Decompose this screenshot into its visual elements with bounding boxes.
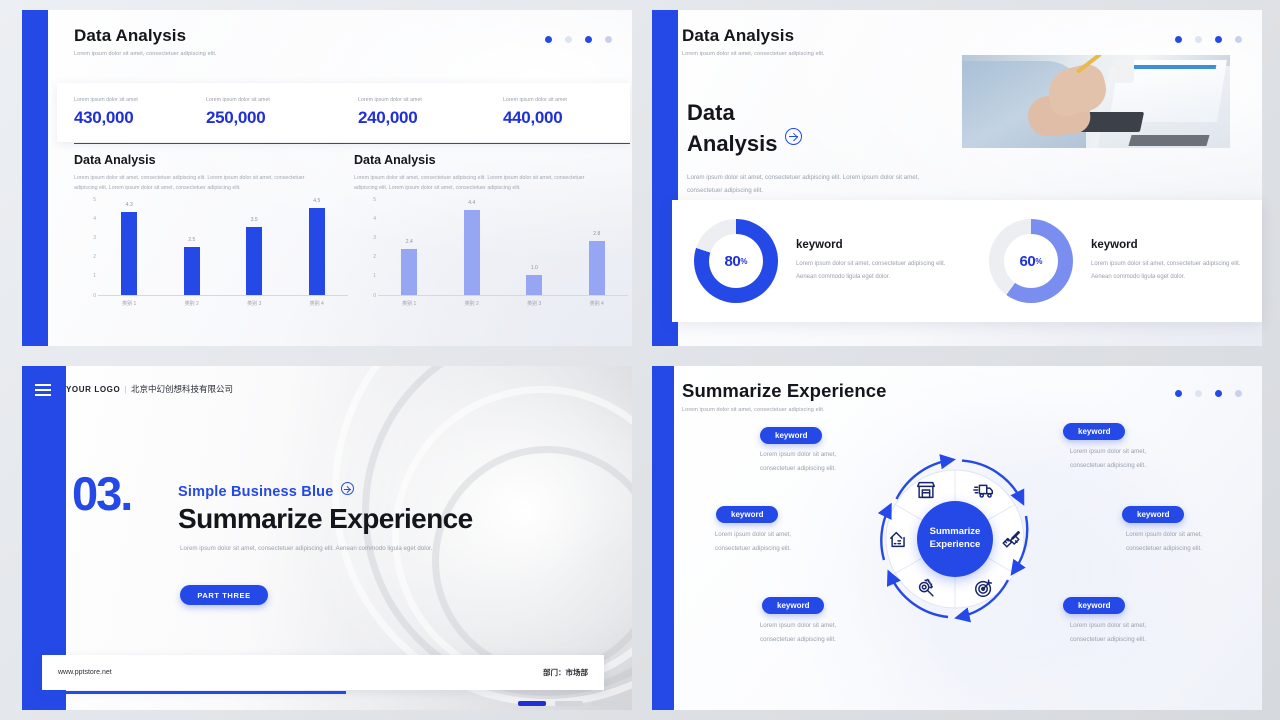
chart1-plot: 4.32.53.54.5: [98, 200, 348, 296]
donut-item-2[interactable]: 60% keyword Lorem ipsum dolor sit amet, …: [967, 219, 1262, 303]
bar[interactable]: 4.4: [464, 210, 480, 294]
slide2-headline-block: Data Analysis Lorem ipsum dolor sit amet…: [687, 98, 931, 197]
y-tick: 4: [373, 216, 376, 222]
stat-value: 240,000: [358, 108, 486, 128]
slide-data-analysis-charts[interactable]: Data Analysis Lorem ipsum dolor sit amet…: [22, 10, 632, 346]
slide4-header: Summarize Experience Lorem ipsum dolor s…: [682, 380, 887, 413]
ruler-pencil-icon[interactable]: [1000, 528, 1022, 550]
bar[interactable]: 4.5: [309, 208, 325, 294]
keyword-body-4: Lorem ipsum dolor sit amet, consectetuer…: [1056, 445, 1160, 473]
stat-item: Lorem ipsum dolor sit amet 440,000: [486, 97, 630, 128]
slide2-headline-line2-wrap: Analysis: [687, 128, 931, 159]
slide2-pagination-dots[interactable]: [1175, 36, 1242, 43]
slide1-header: Data Analysis Lorem ipsum dolor sit amet…: [74, 26, 217, 57]
slide-deck-preview: Data Analysis Lorem ipsum dolor sit amet…: [0, 0, 1280, 720]
y-tick: 3: [373, 235, 376, 241]
bar-slot: 4.4: [441, 200, 504, 295]
target-icon[interactable]: [973, 577, 995, 599]
x-tick-label: 类别 1: [98, 300, 161, 307]
y-tick: 2: [93, 254, 96, 260]
slide1-chart-columns: Data Analysis Lorem ipsum dolor sit amet…: [74, 153, 632, 318]
stat-value: 250,000: [206, 108, 341, 128]
y-tick: 4: [93, 216, 96, 222]
dot-4[interactable]: [605, 36, 612, 43]
bar-value-label: 2.5: [188, 237, 195, 243]
chart1-heading: Data Analysis: [74, 153, 354, 167]
footer-url[interactable]: www.pptstore.net: [58, 669, 112, 676]
y-tick: 0: [373, 293, 376, 299]
dot-2[interactable]: [1195, 36, 1202, 43]
donut-stats-panel: 80% keyword Lorem ipsum dolor sit amet, …: [672, 200, 1262, 322]
stat-label: Lorem ipsum dolor sit amet: [206, 97, 341, 103]
y-tick: 2: [373, 254, 376, 260]
keyword-body-2: Lorem ipsum dolor sit amet, consectetuer…: [701, 528, 805, 556]
dot-1[interactable]: [1175, 390, 1182, 397]
slide1-pagination-dots[interactable]: [545, 36, 612, 43]
bar-chart-1[interactable]: 543210 4.32.53.54.5 类别 1类别 2类别 3类别 4: [74, 200, 348, 318]
bar[interactable]: 2.8: [589, 241, 605, 295]
slide1-subtitle: Lorem ipsum dolor sit amet, consectetuer…: [74, 51, 217, 57]
chart2-x-labels: 类别 1类别 2类别 3类别 4: [378, 300, 628, 307]
slide2-headline-line2: Analysis: [687, 131, 778, 156]
y-tick: 3: [93, 235, 96, 241]
chart-column-left: Data Analysis Lorem ipsum dolor sit amet…: [74, 153, 354, 318]
donut2-center: 60%: [1004, 234, 1058, 288]
x-tick-label: 类别 3: [223, 300, 286, 307]
y-tick: 1: [373, 273, 376, 279]
chart1-x-labels: 类别 1类别 2类别 3类别 4: [98, 300, 348, 307]
stat-item: Lorem ipsum dolor sit amet 240,000: [341, 97, 486, 128]
section-number: 03.: [72, 470, 131, 517]
delivery-truck-icon[interactable]: [973, 479, 995, 501]
office-photo: [962, 55, 1230, 148]
y-tick: 1: [93, 273, 96, 279]
photo-screen-accent: [1132, 65, 1217, 69]
donut1-unit: %: [740, 257, 747, 266]
bar-slot: 2.4: [378, 200, 441, 295]
slide3-logo-bar: YOUR LOGO|北京中幻创想科技有限公司: [66, 383, 233, 395]
bar[interactable]: 4.3: [121, 212, 137, 295]
x-tick-label: 类别 2: [441, 300, 504, 307]
bar-value-label: 4.5: [313, 198, 320, 204]
bar-slot: 2.8: [566, 200, 629, 295]
stat-item: Lorem ipsum dolor sit amet 430,000: [57, 97, 189, 128]
keyword-badge-4[interactable]: keyword: [1063, 423, 1125, 440]
x-tick-label: 类别 1: [378, 300, 441, 307]
slide2-subtitle: Lorem ipsum dolor sit amet, consectetuer…: [682, 51, 825, 57]
dot-3[interactable]: [585, 36, 592, 43]
gear-search-icon[interactable]: [915, 577, 937, 599]
y-tick: 5: [373, 197, 376, 203]
x-tick-label: 类别 4: [566, 300, 629, 307]
bar-slot: 2.5: [161, 200, 224, 295]
deck-page-indicator[interactable]: [518, 701, 620, 706]
dot-1[interactable]: [1175, 36, 1182, 43]
keyword-body-3: Lorem ipsum dolor sit amet, consectetuer…: [746, 619, 850, 647]
photo-cup: [1114, 59, 1134, 83]
stat-value: 440,000: [503, 108, 630, 128]
keyword-badge-6[interactable]: keyword: [1063, 597, 1125, 614]
keyword-body-6: Lorem ipsum dolor sit amet, consectetuer…: [1056, 619, 1160, 647]
bar-value-label: 1.0: [531, 265, 538, 271]
bar-value-label: 3.5: [251, 217, 258, 223]
keyword-badge-5[interactable]: keyword: [1122, 506, 1184, 523]
menu-hamburger-icon[interactable]: [35, 384, 51, 396]
keyword-body-5: Lorem ipsum dolor sit amet, consectetuer…: [1112, 528, 1216, 556]
dot-3[interactable]: [1215, 390, 1222, 397]
company-name: 北京中幻创想科技有限公司: [131, 384, 233, 394]
page-bar-1[interactable]: [518, 701, 546, 706]
dot-3[interactable]: [1215, 36, 1222, 43]
logo-separator: |: [124, 385, 127, 394]
building-icon[interactable]: [888, 528, 910, 550]
dot-2[interactable]: [1195, 390, 1202, 397]
donut1-value: 80: [724, 253, 740, 270]
bar[interactable]: 2.5: [184, 247, 200, 295]
chart2-y-axis: 543210: [354, 200, 376, 296]
slide4-pagination-dots[interactable]: [1175, 390, 1242, 397]
bar-value-label: 2.8: [593, 231, 600, 237]
chart2-body: Lorem ipsum dolor sit amet, consectetuer…: [354, 173, 606, 194]
slide1-title: Data Analysis: [74, 26, 217, 46]
stat-value: 430,000: [74, 108, 189, 128]
donut2-heading: keyword: [1091, 239, 1243, 251]
donut-item-1[interactable]: 80% keyword Lorem ipsum dolor sit amet, …: [672, 219, 967, 303]
donut2-unit: %: [1035, 257, 1042, 266]
slide2-title: Data Analysis: [682, 26, 825, 46]
page-bar-2[interactable]: [555, 701, 583, 706]
slide3-progress-underline: [44, 691, 346, 694]
arrow-right-circle-icon[interactable]: [341, 482, 354, 495]
dot-4[interactable]: [1235, 390, 1242, 397]
keyword-body-1: Lorem ipsum dolor sit amet, consectetuer…: [746, 448, 850, 476]
bar-slot: 4.5: [286, 200, 349, 295]
bar-slot: 1.0: [503, 200, 566, 295]
store-icon[interactable]: [915, 479, 937, 501]
section-headline: Summarize Experience: [178, 503, 473, 535]
chart2-plot: 2.44.41.02.8: [378, 200, 628, 296]
donut2-text: keyword Lorem ipsum dolor sit amet, cons…: [1091, 239, 1243, 284]
chart-column-right: Data Analysis Lorem ipsum dolor sit amet…: [354, 153, 632, 318]
keyword-badge-2[interactable]: keyword: [716, 506, 778, 523]
slide2-body: Lorem ipsum dolor sit amet, consectetuer…: [687, 171, 931, 197]
bar-value-label: 4.4: [468, 200, 475, 206]
stat-item: Lorem ipsum dolor sit amet 250,000: [189, 97, 341, 128]
logo-text: YOUR LOGO: [66, 385, 120, 394]
part-three-button[interactable]: PART THREE: [180, 585, 268, 605]
bar-slot: 3.5: [223, 200, 286, 295]
slide4-accent-bar: [652, 366, 674, 710]
slide4-title: Summarize Experience: [682, 380, 887, 402]
photo-keyboard: [1128, 135, 1209, 146]
dot-2[interactable]: [565, 36, 572, 43]
chart1-body: Lorem ipsum dolor sit amet, consectetuer…: [74, 173, 326, 194]
page-bar-3[interactable]: [592, 701, 620, 706]
bar-value-label: 4.3: [126, 202, 133, 208]
summarize-wheel-diagram[interactable]: Summarize Experience: [862, 446, 1048, 632]
arrow-right-circle-icon[interactable]: [785, 128, 802, 145]
donut1-center: 80%: [709, 234, 763, 288]
dot-1[interactable]: [545, 36, 552, 43]
section-body: Lorem ipsum dolor sit amet, consectetuer…: [180, 542, 470, 556]
donut-chart-60[interactable]: 60%: [989, 219, 1073, 303]
footer-department: 部门：市场部: [543, 667, 588, 678]
keyword-badge-1[interactable]: keyword: [760, 427, 822, 444]
bar[interactable]: 3.5: [246, 227, 262, 294]
hub-line-2: Experience: [930, 539, 981, 552]
stat-label: Lorem ipsum dolor sit amet: [358, 97, 486, 103]
slide1-accent-bar: [22, 10, 48, 346]
keyword-badge-3[interactable]: keyword: [762, 597, 824, 614]
kicker-text: Simple Business Blue: [178, 484, 334, 500]
donut1-body: Lorem ipsum dolor sit amet, consectetuer…: [796, 258, 948, 284]
y-tick: 0: [93, 293, 96, 299]
x-tick-label: 类别 4: [286, 300, 349, 307]
slide3-footer-bar: www.pptstore.net 部门：市场部: [42, 655, 604, 690]
dot-4[interactable]: [1235, 36, 1242, 43]
hub-line-1: Summarize: [930, 526, 981, 539]
section-kicker: Simple Business Blue: [178, 482, 354, 500]
slide4-subtitle: Lorem ipsum dolor sit amet, consectetuer…: [682, 407, 887, 413]
chart2-heading: Data Analysis: [354, 153, 632, 167]
donut1-text: keyword Lorem ipsum dolor sit amet, cons…: [796, 239, 948, 284]
y-tick: 5: [93, 197, 96, 203]
chart1-y-axis: 543210: [74, 200, 96, 296]
bar-slot: 4.3: [98, 200, 161, 295]
slide2-header: Data Analysis Lorem ipsum dolor sit amet…: [682, 26, 825, 57]
wheel-hub: Summarize Experience: [917, 501, 993, 577]
donut2-body: Lorem ipsum dolor sit amet, consectetuer…: [1091, 258, 1243, 284]
stat-card-row: Lorem ipsum dolor sit amet 430,000 Lorem…: [57, 83, 630, 142]
x-tick-label: 类别 3: [503, 300, 566, 307]
bar[interactable]: 1.0: [526, 275, 542, 294]
slide2-headline-line1: Data: [687, 98, 931, 128]
x-tick-label: 类别 2: [161, 300, 224, 307]
bar[interactable]: 2.4: [401, 249, 417, 295]
donut1-heading: keyword: [796, 239, 948, 251]
donut-chart-80[interactable]: 80%: [694, 219, 778, 303]
donut2-value: 60: [1019, 253, 1035, 270]
bar-chart-2[interactable]: 543210 2.44.41.02.8 类别 1类别 2类别 3类别 4: [354, 200, 628, 318]
stat-label: Lorem ipsum dolor sit amet: [74, 97, 189, 103]
bar-value-label: 2.4: [406, 239, 413, 245]
stat-label: Lorem ipsum dolor sit amet: [503, 97, 630, 103]
slide1-divider: [74, 143, 630, 144]
